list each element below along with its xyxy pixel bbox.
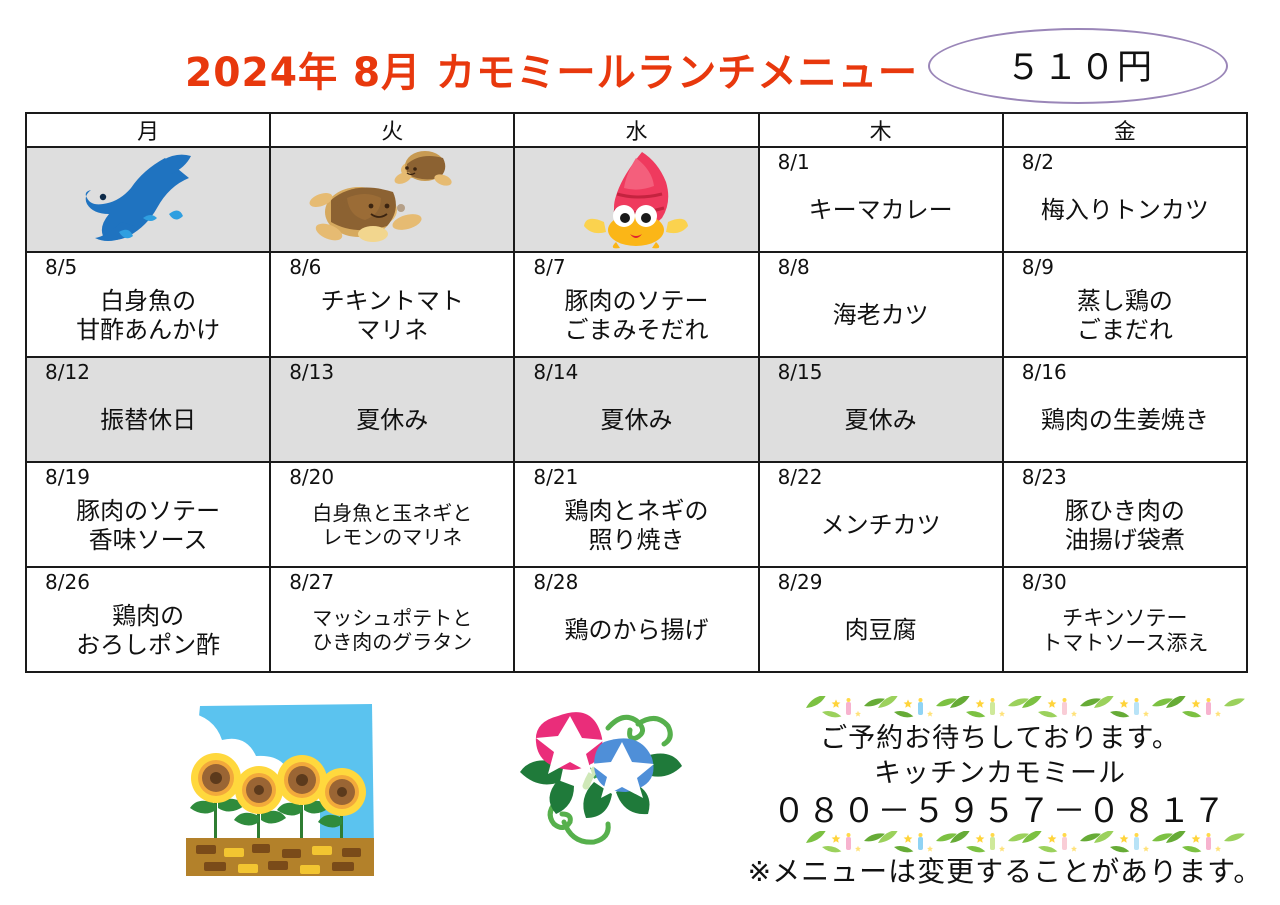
contact-reservation-text: ご予約お待ちしております。 [740, 722, 1260, 757]
calendar-day-cell: 8/30チキンソテー トマトソース添え [1003, 567, 1247, 672]
cell-menu-text: 鶏のから揚げ [515, 596, 757, 671]
dolphin-illustration [27, 148, 269, 251]
calendar-day-cell: 8/6チキントマト マリネ [270, 252, 514, 357]
cell-date: 8/7 [515, 253, 757, 281]
hermit-crab-illustration [515, 148, 757, 252]
price-badge: ５１０円 [928, 28, 1228, 104]
day-header-wed: 水 [514, 113, 758, 147]
cell-menu-text: 白身魚の 甘酢あんかけ [27, 281, 269, 356]
cell-menu-text: 肉豆腐 [760, 596, 1002, 671]
cell-date: 8/30 [1004, 568, 1246, 596]
cell-date: 8/27 [271, 568, 513, 596]
cell-date: 8/28 [515, 568, 757, 596]
calendar-day-cell: 8/23豚ひき肉の 油揚げ袋煮 [1003, 462, 1247, 567]
calendar-day-cell: 8/22メンチカツ [759, 462, 1003, 567]
calendar-week-row: 8/1キーマカレー8/2梅入りトンカツ [26, 147, 1247, 252]
cell-date: 8/15 [760, 358, 1002, 386]
morning-glory-illustration [498, 694, 688, 874]
sea-turtles-icon [307, 148, 477, 252]
calendar-week-row: 8/19豚肉のソテー 香味ソース8/20白身魚と玉ネギと レモンのマリネ8/21… [26, 462, 1247, 567]
cell-menu-text: 鶏肉の おろしポン酢 [27, 596, 269, 671]
contact-block: ご予約お待ちしております。 キッチンカモミール ０８０－５９５７－０８１７ [740, 696, 1260, 857]
cell-date: 8/9 [1004, 253, 1246, 281]
day-header-tue: 火 [270, 113, 514, 147]
cell-date: 8/16 [1004, 358, 1246, 386]
cell-date: 8/29 [760, 568, 1002, 596]
day-header-fri: 金 [1003, 113, 1247, 147]
cell-date: 8/14 [515, 358, 757, 386]
cell-menu-text: 蒸し鶏の ごまだれ [1004, 281, 1246, 356]
cell-date: 8/22 [760, 463, 1002, 491]
calendar-day-cell: 8/9蒸し鶏の ごまだれ [1003, 252, 1247, 357]
cell-menu-text: 豚肉のソテー 香味ソース [27, 491, 269, 566]
cell-menu-text: 海老カツ [760, 281, 1002, 356]
header: 2024年 8月 カモミールランチメニュー ５１０円 [0, 0, 1280, 108]
cell-date: 8/20 [271, 463, 513, 491]
calendar-day-cell: 8/27マッシュポテトと ひき肉のグラタン [270, 567, 514, 672]
calendar-day-cell: 8/28鶏のから揚げ [514, 567, 758, 672]
tanabata-border-top [740, 696, 1260, 722]
price-label: ５１０円 [930, 30, 1230, 106]
cell-date: 8/21 [515, 463, 757, 491]
cell-menu-text: 梅入りトンカツ [1004, 176, 1246, 251]
cell-date: 8/1 [760, 148, 1002, 176]
cell-date: 8/12 [27, 358, 269, 386]
cell-menu-text: チキンソテー トマトソース添え [1004, 596, 1246, 671]
shop-name: キッチンカモミール [740, 757, 1260, 792]
sunflowers-illustration [160, 698, 380, 878]
calendar-day-cell [270, 147, 514, 252]
sea-turtles-illustration [271, 148, 513, 252]
calendar-day-cell: 8/29肉豆腐 [759, 567, 1003, 672]
calendar-day-cell: 8/16鶏肉の生姜焼き [1003, 357, 1247, 462]
calendar-day-cell: 8/12振替休日 [26, 357, 270, 462]
menu-change-note: ※メニューは変更することがあります。 [740, 850, 1270, 890]
calendar-day-cell [514, 147, 758, 252]
calendar-day-cell: 8/5白身魚の 甘酢あんかけ [26, 252, 270, 357]
cell-menu-text: 振替休日 [27, 386, 269, 461]
calendar-day-cell: 8/21鶏肉とネギの 照り焼き [514, 462, 758, 567]
cell-date: 8/13 [271, 358, 513, 386]
cell-date: 8/5 [27, 253, 269, 281]
cell-menu-text: 鶏肉の生姜焼き [1004, 386, 1246, 461]
calendar-day-cell: 8/8海老カツ [759, 252, 1003, 357]
calendar-day-cell: 8/20白身魚と玉ネギと レモンのマリネ [270, 462, 514, 567]
cell-menu-text: 夏休み [515, 386, 757, 461]
cell-menu-text: メンチカツ [760, 491, 1002, 566]
hermit-crab-icon [576, 148, 696, 252]
footer: ご予約お待ちしております。 キッチンカモミール ０８０－５９５７－０８１７ ※メ… [0, 690, 1280, 905]
cell-menu-text: マッシュポテトと ひき肉のグラタン [271, 596, 513, 671]
calendar-day-cell: 8/13夏休み [270, 357, 514, 462]
cell-menu-text: キーマカレー [760, 176, 1002, 251]
cell-date: 8/26 [27, 568, 269, 596]
cell-date: 8/6 [271, 253, 513, 281]
cell-menu-text: 白身魚と玉ネギと レモンのマリネ [271, 491, 513, 566]
calendar-day-cell: 8/1キーマカレー [759, 147, 1003, 252]
cell-date: 8/8 [760, 253, 1002, 281]
cell-menu-text: 豚肉のソテー ごまみそだれ [515, 281, 757, 356]
calendar-body: 8/1キーマカレー8/2梅入りトンカツ8/5白身魚の 甘酢あんかけ8/6チキント… [26, 147, 1247, 672]
menu-calendar: 月 火 水 木 金 [25, 112, 1248, 673]
cell-menu-text: 夏休み [271, 386, 513, 461]
calendar-day-cell: 8/15夏休み [759, 357, 1003, 462]
cell-date: 8/23 [1004, 463, 1246, 491]
calendar-week-row: 8/5白身魚の 甘酢あんかけ8/6チキントマト マリネ8/7豚肉のソテー ごまみ… [26, 252, 1247, 357]
dolphin-icon [73, 152, 223, 248]
calendar-header-row: 月 火 水 木 金 [26, 113, 1247, 147]
calendar-day-cell [26, 147, 270, 252]
cell-date: 8/19 [27, 463, 269, 491]
calendar-week-row: 8/12振替休日8/13夏休み8/14夏休み8/15夏休み8/16鶏肉の生姜焼き [26, 357, 1247, 462]
phone-number: ０８０－５９５７－０８１７ [740, 791, 1260, 831]
calendar-day-cell: 8/2梅入りトンカツ [1003, 147, 1247, 252]
calendar-day-cell: 8/19豚肉のソテー 香味ソース [26, 462, 270, 567]
calendar-day-cell: 8/14夏休み [514, 357, 758, 462]
cell-menu-text: 豚ひき肉の 油揚げ袋煮 [1004, 491, 1246, 566]
page-title: 2024年 8月 カモミールランチメニュー [185, 40, 918, 98]
calendar-day-cell: 8/26鶏肉の おろしポン酢 [26, 567, 270, 672]
day-header-mon: 月 [26, 113, 270, 147]
day-header-thu: 木 [759, 113, 1003, 147]
calendar-day-cell: 8/7豚肉のソテー ごまみそだれ [514, 252, 758, 357]
cell-menu-text: チキントマト マリネ [271, 281, 513, 356]
cell-menu-text: 夏休み [760, 386, 1002, 461]
cell-date: 8/2 [1004, 148, 1246, 176]
calendar-week-row: 8/26鶏肉の おろしポン酢8/27マッシュポテトと ひき肉のグラタン8/28鶏… [26, 567, 1247, 672]
cell-menu-text: 鶏肉とネギの 照り焼き [515, 491, 757, 566]
